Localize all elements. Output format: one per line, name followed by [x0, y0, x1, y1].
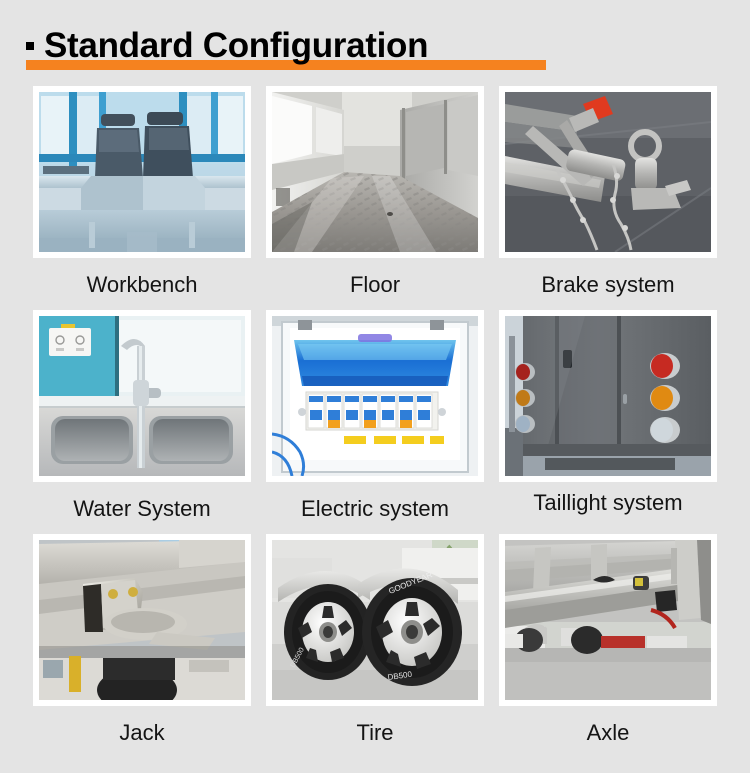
configuration-grid: Workbench [0, 86, 750, 758]
grid-item-caption: Tire [356, 706, 393, 756]
standard-configuration-page: Standard Configuration [0, 0, 750, 773]
grid-item-tire[interactable]: GOODYEAR DB500 DB500 Tire [266, 534, 484, 756]
grid-item-caption: Water System [73, 482, 210, 532]
axle-photo [505, 540, 711, 700]
grid-item-axle[interactable]: Axle [499, 534, 717, 756]
photo-frame [499, 86, 717, 258]
grid-item-jack[interactable]: Jack [33, 534, 251, 756]
grid-item-caption: Brake system [541, 258, 674, 308]
grid-item-caption: Taillight system [533, 482, 682, 526]
floor-photo [272, 92, 478, 252]
grid-row: Water System [0, 310, 750, 532]
grid-row: Jack [0, 534, 750, 756]
grid-item-caption: Workbench [87, 258, 198, 308]
electric-system-photo [272, 316, 478, 476]
grid-item-caption: Axle [587, 706, 630, 756]
page-title: Standard Configuration [26, 26, 428, 78]
page-header: Standard Configuration [0, 0, 750, 86]
brake-system-photo [505, 92, 711, 252]
grid-item-brake-system[interactable]: Brake system [499, 86, 717, 308]
workbench-photo [39, 92, 245, 252]
photo-frame [266, 86, 484, 258]
grid-item-taillight-system[interactable]: Taillight system [499, 310, 717, 532]
photo-frame [33, 86, 251, 258]
taillight-system-photo [505, 316, 711, 476]
photo-frame [33, 310, 251, 482]
page-title-text: Standard Configuration [44, 26, 428, 65]
tire-photo: GOODYEAR DB500 DB500 [272, 540, 478, 700]
grid-item-workbench[interactable]: Workbench [33, 86, 251, 308]
grid-item-electric-system[interactable]: Electric system [266, 310, 484, 532]
square-bullet-icon [26, 42, 34, 50]
grid-row: Workbench [0, 86, 750, 308]
photo-frame [33, 534, 251, 706]
grid-item-water-system[interactable]: Water System [33, 310, 251, 532]
grid-item-caption: Floor [350, 258, 400, 308]
photo-frame: GOODYEAR DB500 DB500 [266, 534, 484, 706]
photo-frame [499, 534, 717, 706]
water-system-photo [39, 316, 245, 476]
grid-item-caption: Electric system [301, 482, 449, 532]
jack-photo [39, 540, 245, 700]
photo-frame [499, 310, 717, 482]
photo-frame [266, 310, 484, 482]
grid-item-floor[interactable]: Floor [266, 86, 484, 308]
grid-item-caption: Jack [119, 706, 164, 756]
